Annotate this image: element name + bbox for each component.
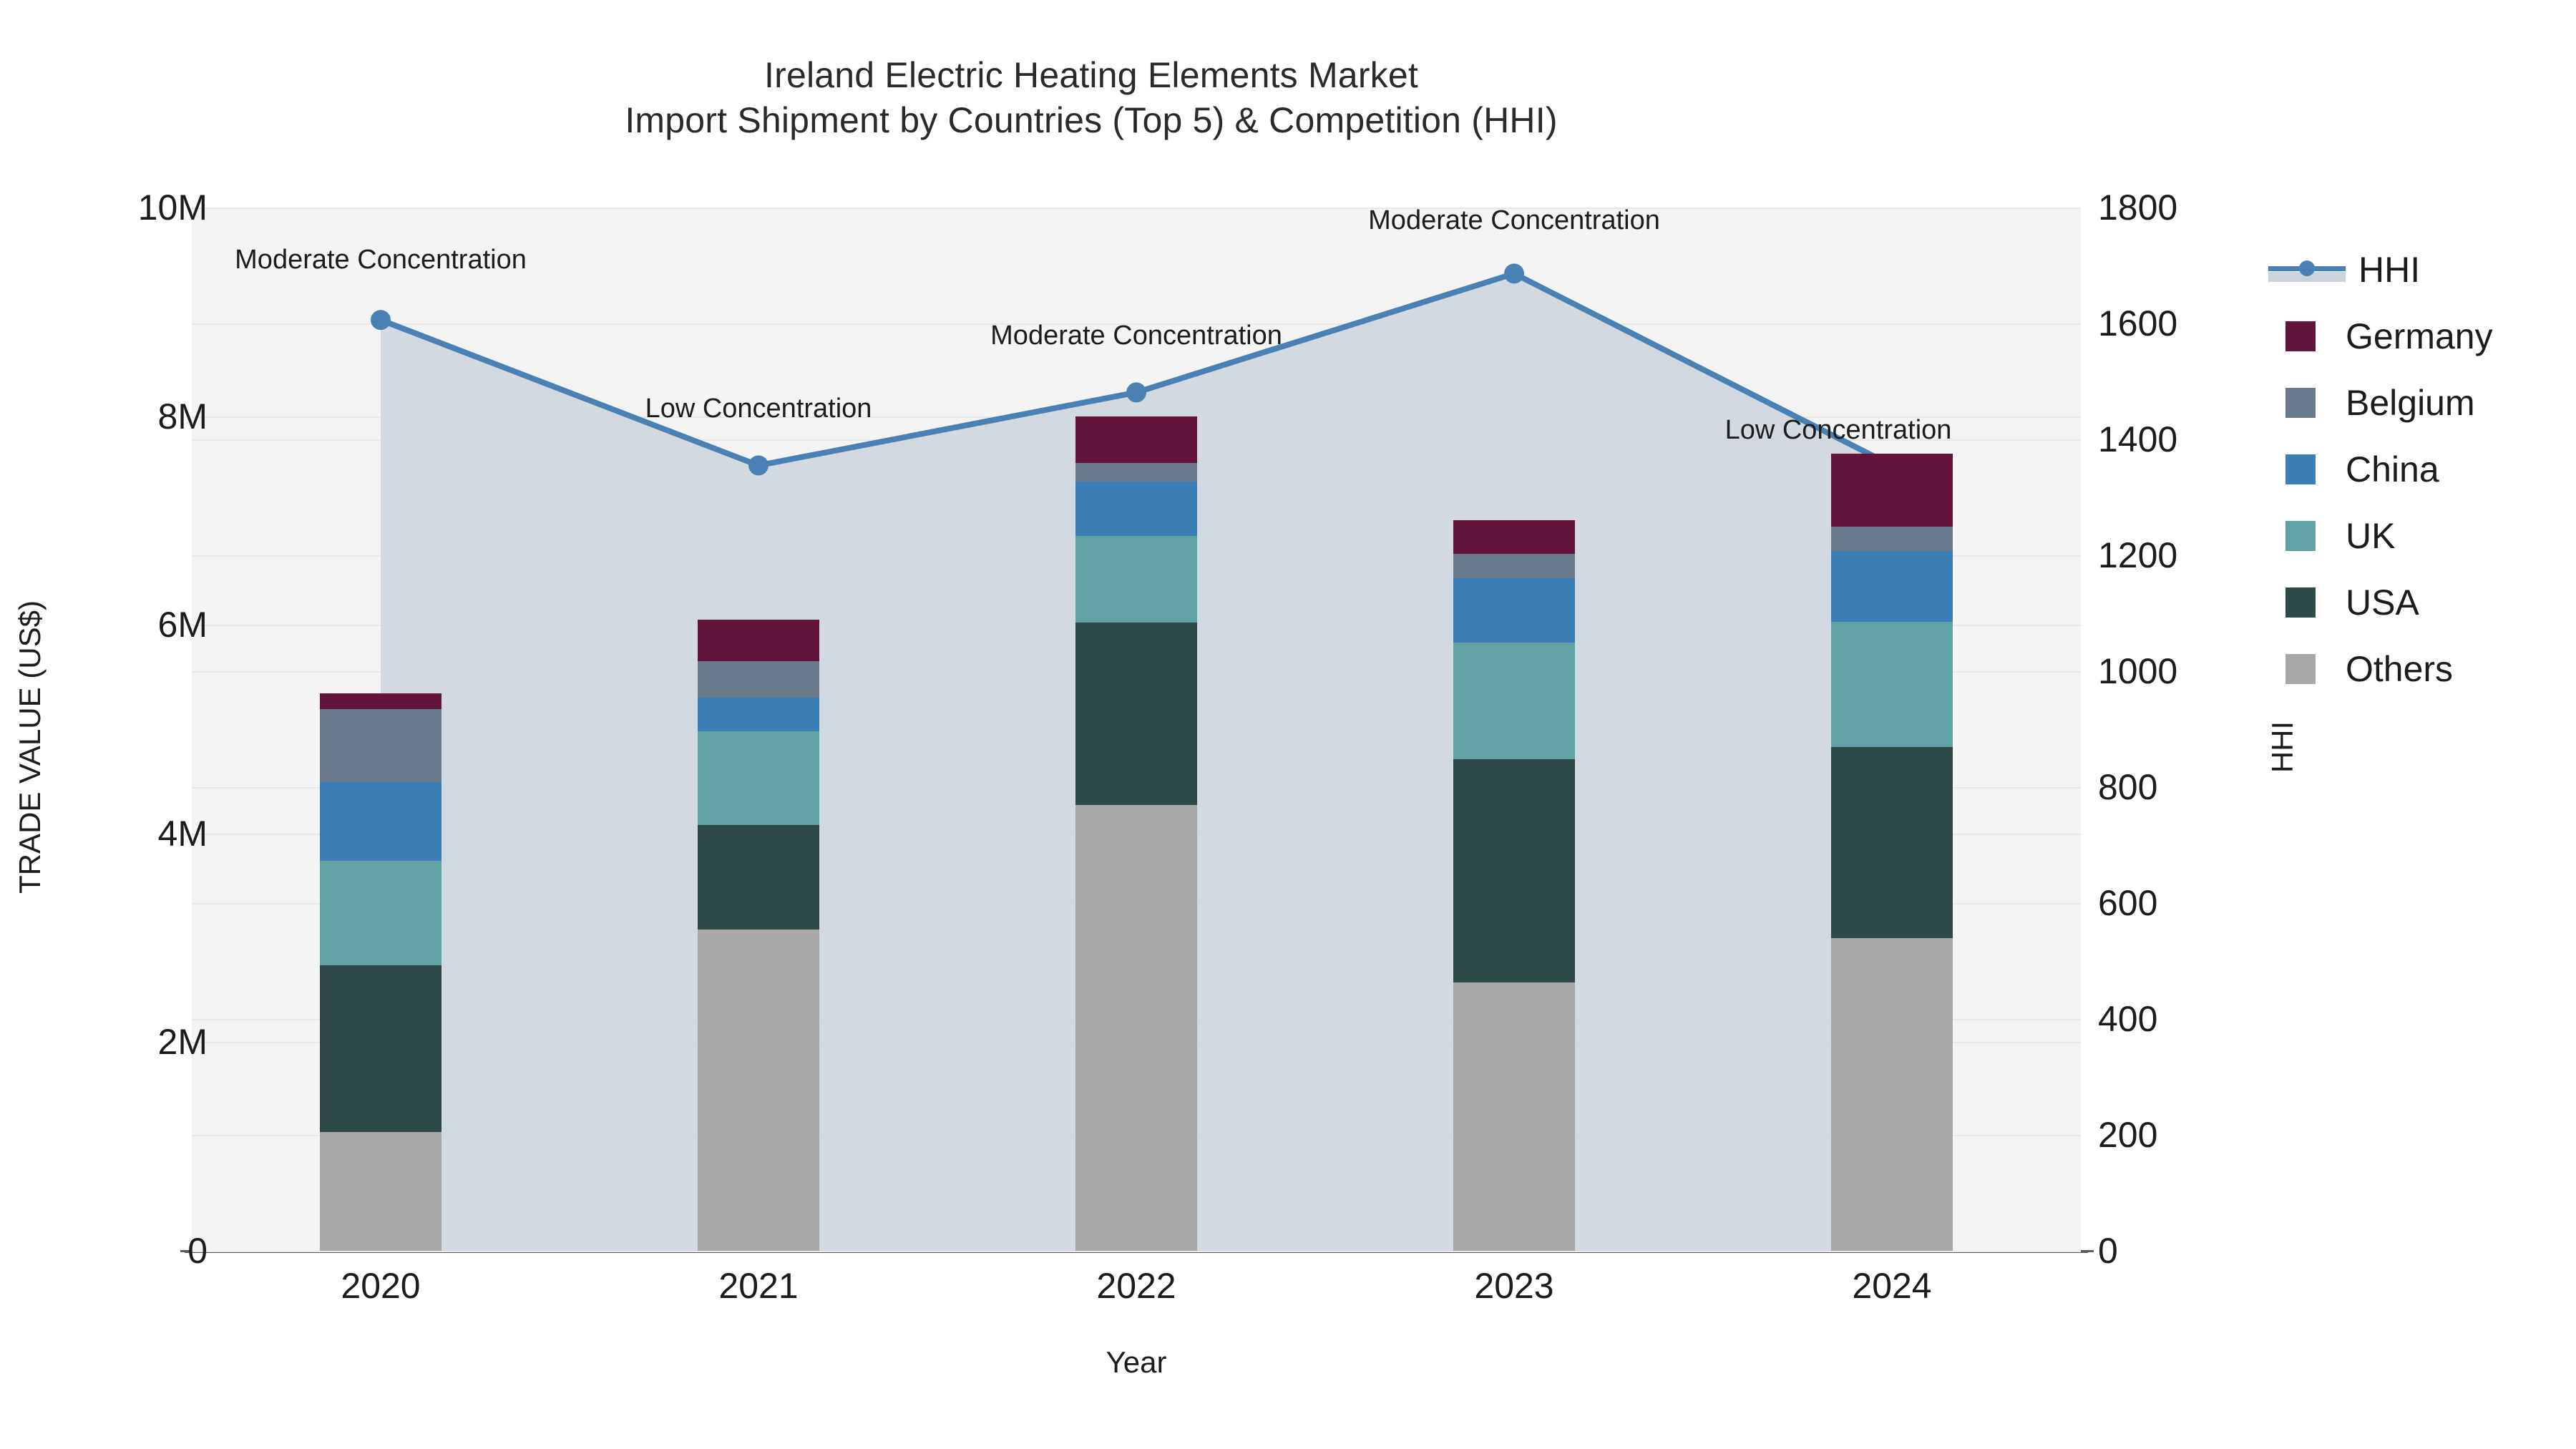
gridline (192, 208, 2081, 209)
bar-segment-germany-2021[interactable] (698, 620, 819, 661)
x-axis-tick-label-2024: 2024 (1852, 1265, 1931, 1307)
gridline (192, 1251, 2081, 1252)
annotation-2020: Moderate Concentration (235, 245, 527, 275)
legend-label-others: Others (2346, 648, 2453, 690)
bar-segment-usa-2023[interactable] (1453, 759, 1575, 982)
bar-segment-others-2021[interactable] (698, 930, 819, 1251)
x-axis-tick-label-2021: 2021 (718, 1265, 798, 1307)
bar-segment-china-2021[interactable] (698, 698, 819, 731)
legend-swatch-belgium (2285, 388, 2316, 418)
legend-swatch-germany (2285, 321, 2316, 351)
x-axis-tick-label-2023: 2023 (1474, 1265, 1553, 1307)
y-axis-right-tick (2081, 1250, 2094, 1252)
bar-stack-2023[interactable] (1453, 520, 1575, 1251)
y-axis-left-title: TRADE VALUE (US$) (13, 547, 47, 947)
bar-segment-belgium-2022[interactable] (1075, 463, 1197, 482)
bar-segment-china-2024[interactable] (1831, 551, 1953, 622)
legend-swatch-usa (2285, 587, 2316, 618)
legend-label-usa: USA (2346, 582, 2419, 623)
legend-label-hhi: HHI (2358, 249, 2420, 291)
y-axis-right-tick-label: 200 (2098, 1114, 2313, 1156)
legend-item-uk[interactable]: UK (2268, 502, 2569, 569)
legend-item-belgium[interactable]: Belgium (2268, 369, 2569, 436)
legend-item-usa[interactable]: USA (2268, 569, 2569, 635)
y-axis-left-tick-label: 8M (0, 396, 208, 437)
bar-segment-germany-2024[interactable] (1831, 454, 1953, 527)
bar-segment-uk-2024[interactable] (1831, 622, 1953, 747)
bar-segment-usa-2022[interactable] (1075, 623, 1197, 805)
bar-segment-uk-2022[interactable] (1075, 536, 1197, 623)
legend-item-germany[interactable]: Germany (2268, 303, 2569, 369)
legend-label-uk: UK (2346, 515, 2395, 557)
legend-line-icon (2268, 255, 2346, 285)
y-axis-right-tick-label: 1800 (2098, 187, 2313, 228)
legend: HHIGermanyBelgiumChinaUKUSAOthers (2268, 236, 2569, 702)
annotation-2024: Low Concentration (1725, 415, 1952, 446)
bar-stack-2022[interactable] (1075, 416, 1197, 1251)
bar-segment-others-2022[interactable] (1075, 805, 1197, 1251)
bar-segment-others-2023[interactable] (1453, 982, 1575, 1251)
bar-segment-usa-2020[interactable] (320, 965, 441, 1132)
y-axis-right-tick-label: 0 (2098, 1230, 2313, 1272)
chart-title-line1: Ireland Electric Heating Elements Market (764, 55, 1418, 95)
bar-stack-2020[interactable] (320, 693, 441, 1251)
bar-segment-belgium-2023[interactable] (1453, 554, 1575, 578)
bar-segment-germany-2022[interactable] (1075, 416, 1197, 464)
y-axis-right-tick-label: 600 (2098, 882, 2313, 924)
legend-swatch-others (2285, 654, 2316, 684)
bar-segment-china-2023[interactable] (1453, 578, 1575, 643)
bar-segment-china-2020[interactable] (320, 782, 441, 860)
bar-segment-uk-2020[interactable] (320, 861, 441, 965)
legend-label-china: China (2346, 449, 2439, 490)
y-axis-left-tick-label: 10M (0, 187, 208, 228)
bar-segment-uk-2021[interactable] (698, 731, 819, 825)
bar-stack-2024[interactable] (1831, 454, 1953, 1251)
legend-item-china[interactable]: China (2268, 436, 2569, 502)
bar-segment-belgium-2024[interactable] (1831, 527, 1953, 551)
annotation-2022: Moderate Concentration (990, 321, 1282, 351)
bar-segment-germany-2023[interactable] (1453, 520, 1575, 554)
bar-segment-germany-2020[interactable] (320, 693, 441, 709)
x-axis-tick-label-2022: 2022 (1096, 1265, 1176, 1307)
bar-segment-uk-2023[interactable] (1453, 643, 1575, 759)
bar-segment-belgium-2020[interactable] (320, 709, 441, 782)
legend-item-others[interactable]: Others (2268, 635, 2569, 702)
legend-item-hhi[interactable]: HHI (2268, 236, 2569, 303)
legend-label-germany: Germany (2346, 316, 2493, 357)
bar-segment-belgium-2021[interactable] (698, 661, 819, 698)
annotation-2021: Low Concentration (645, 394, 872, 424)
y-axis-left-tick-label: 2M (0, 1021, 208, 1063)
bar-segment-others-2024[interactable] (1831, 938, 1953, 1251)
bar-segment-usa-2024[interactable] (1831, 747, 1953, 938)
plot-area: Moderate ConcentrationLow ConcentrationM… (192, 208, 2081, 1251)
x-axis-tick-label-2020: 2020 (341, 1265, 420, 1307)
x-axis-title: Year (192, 1345, 2081, 1380)
chart-title-line2: Import Shipment by Countries (Top 5) & C… (0, 98, 2182, 143)
bar-segment-usa-2021[interactable] (698, 825, 819, 930)
chart-title: Ireland Electric Heating Elements Market… (0, 53, 2182, 142)
annotation-2023: Moderate Concentration (1368, 205, 1660, 236)
bar-segment-china-2022[interactable] (1075, 482, 1197, 536)
legend-swatch-china (2285, 454, 2316, 484)
y-axis-right-tick-label: 400 (2098, 998, 2313, 1040)
bar-segment-others-2020[interactable] (320, 1132, 441, 1251)
bar-stack-2021[interactable] (698, 620, 819, 1251)
y-axis-left-tick-label: 0 (0, 1230, 208, 1272)
legend-label-belgium: Belgium (2346, 382, 2475, 424)
legend-swatch-uk (2285, 521, 2316, 551)
